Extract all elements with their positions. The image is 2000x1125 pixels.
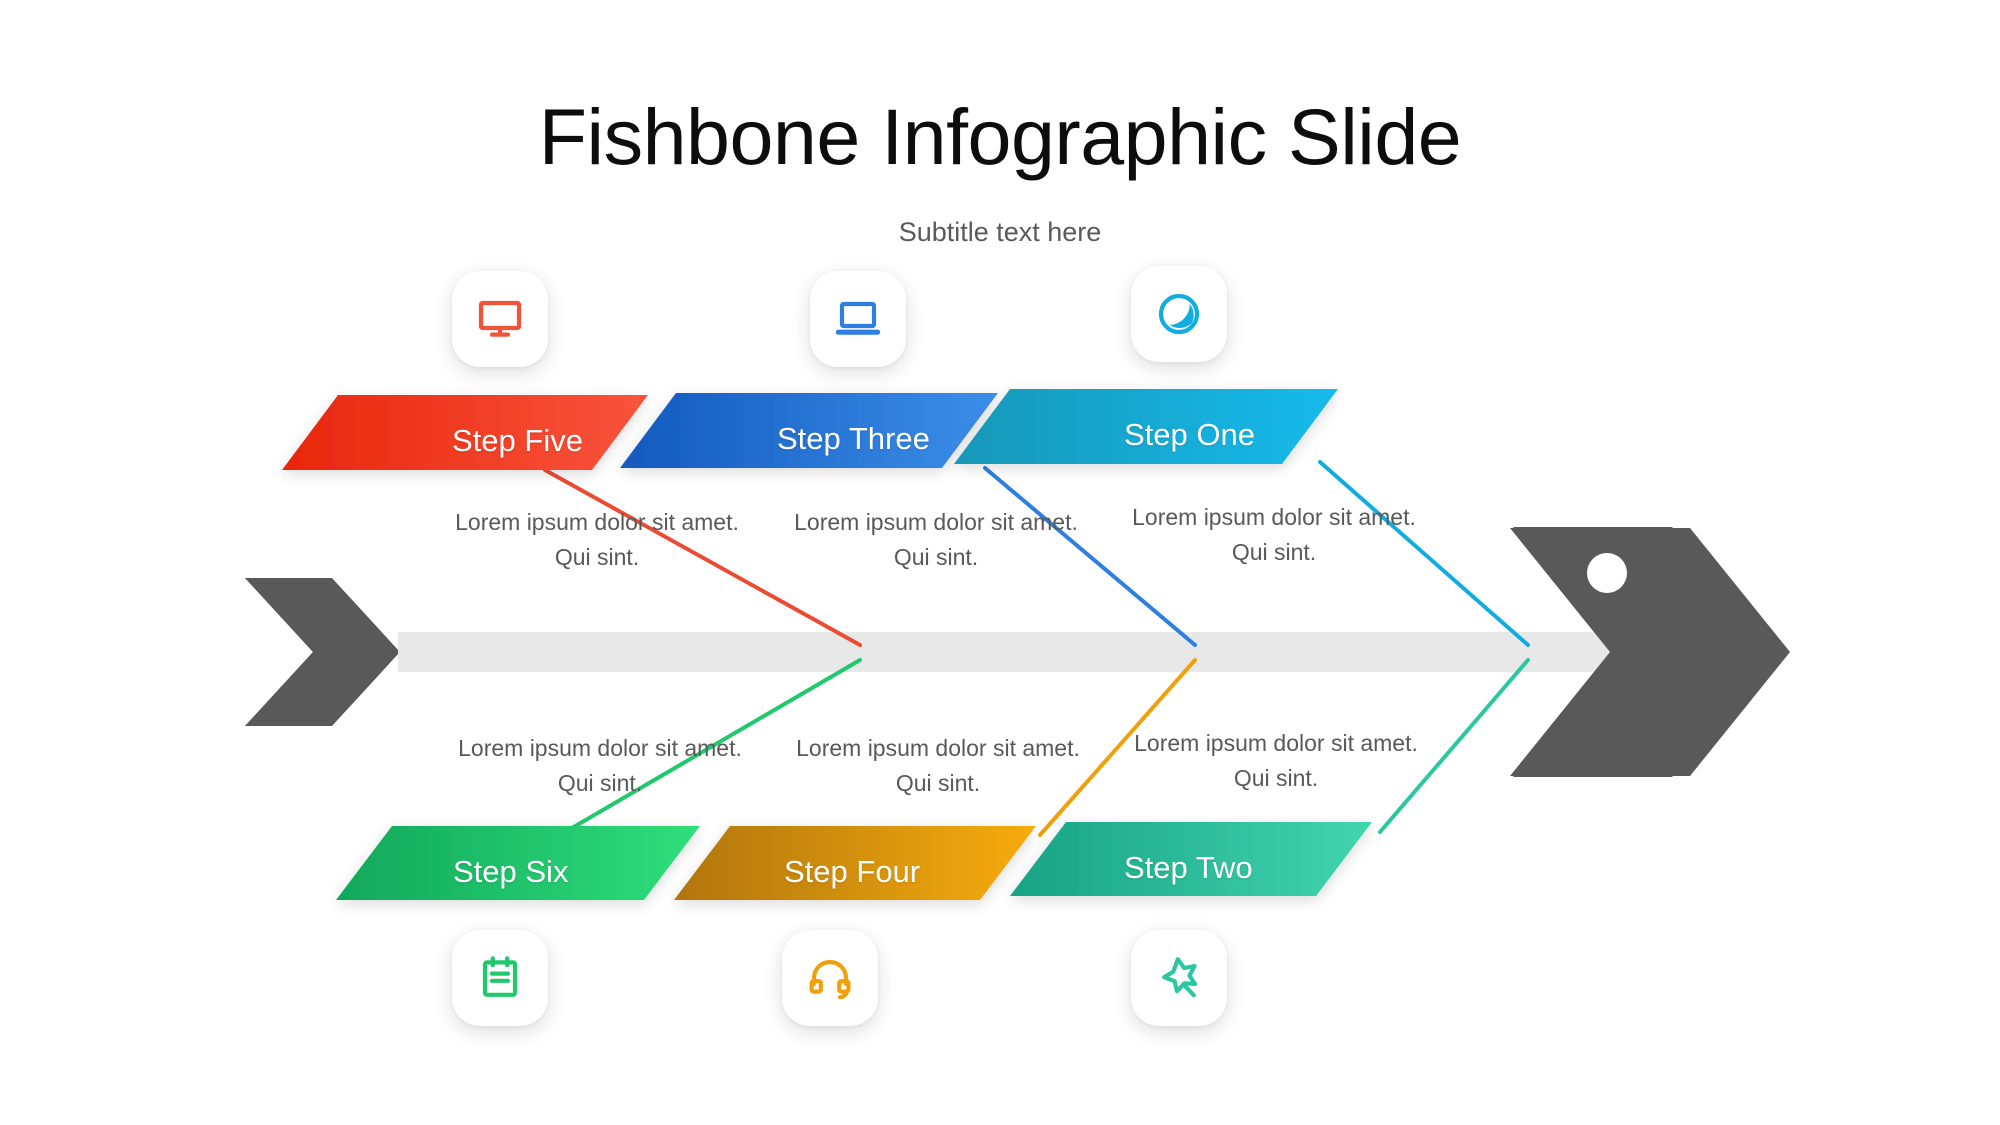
step-description-step-four: Lorem ipsum dolor sit amet. Qui sint. — [793, 731, 1083, 801]
icon-bubble-step-four[interactable] — [782, 930, 878, 1026]
step-label-step-three[interactable]: Step Three — [777, 421, 930, 457]
magic-wand-icon — [1155, 954, 1203, 1002]
step-description-step-five: Lorem ipsum dolor sit amet. Qui sint. — [452, 505, 742, 575]
fish-tail — [245, 578, 400, 726]
slide-canvas: Fishbone Infographic Slide Subtitle text… — [0, 0, 2000, 1125]
step-label-step-six[interactable]: Step Six — [453, 854, 568, 890]
icon-bubble-step-two[interactable] — [1131, 930, 1227, 1026]
step-label-step-four[interactable]: Step Four — [784, 854, 920, 890]
step-description-step-three: Lorem ipsum dolor sit amet. Qui sint. — [791, 505, 1081, 575]
step-label-step-one[interactable]: Step One — [1124, 417, 1255, 453]
headset-icon — [806, 954, 854, 1002]
step-label-step-five[interactable]: Step Five — [452, 423, 583, 459]
step-description-step-one: Lorem ipsum dolor sit amet. Qui sint. — [1129, 500, 1419, 570]
step-description-step-two: Lorem ipsum dolor sit amet. Qui sint. — [1131, 726, 1421, 796]
step-label-step-two[interactable]: Step Two — [1124, 850, 1253, 886]
fishbone-spine — [398, 632, 1633, 672]
notepad-icon — [476, 954, 524, 1002]
icon-bubble-step-five[interactable] — [452, 271, 548, 367]
laptop-icon — [834, 295, 882, 343]
step-description-step-six: Lorem ipsum dolor sit amet. Qui sint. — [455, 731, 745, 801]
fish-eye — [1587, 553, 1627, 593]
icon-bubble-step-six[interactable] — [452, 930, 548, 1026]
monitor-icon — [476, 295, 524, 343]
icon-bubble-step-three[interactable] — [810, 271, 906, 367]
icon-bubble-step-one[interactable] — [1131, 266, 1227, 362]
moon-icon — [1155, 290, 1203, 338]
